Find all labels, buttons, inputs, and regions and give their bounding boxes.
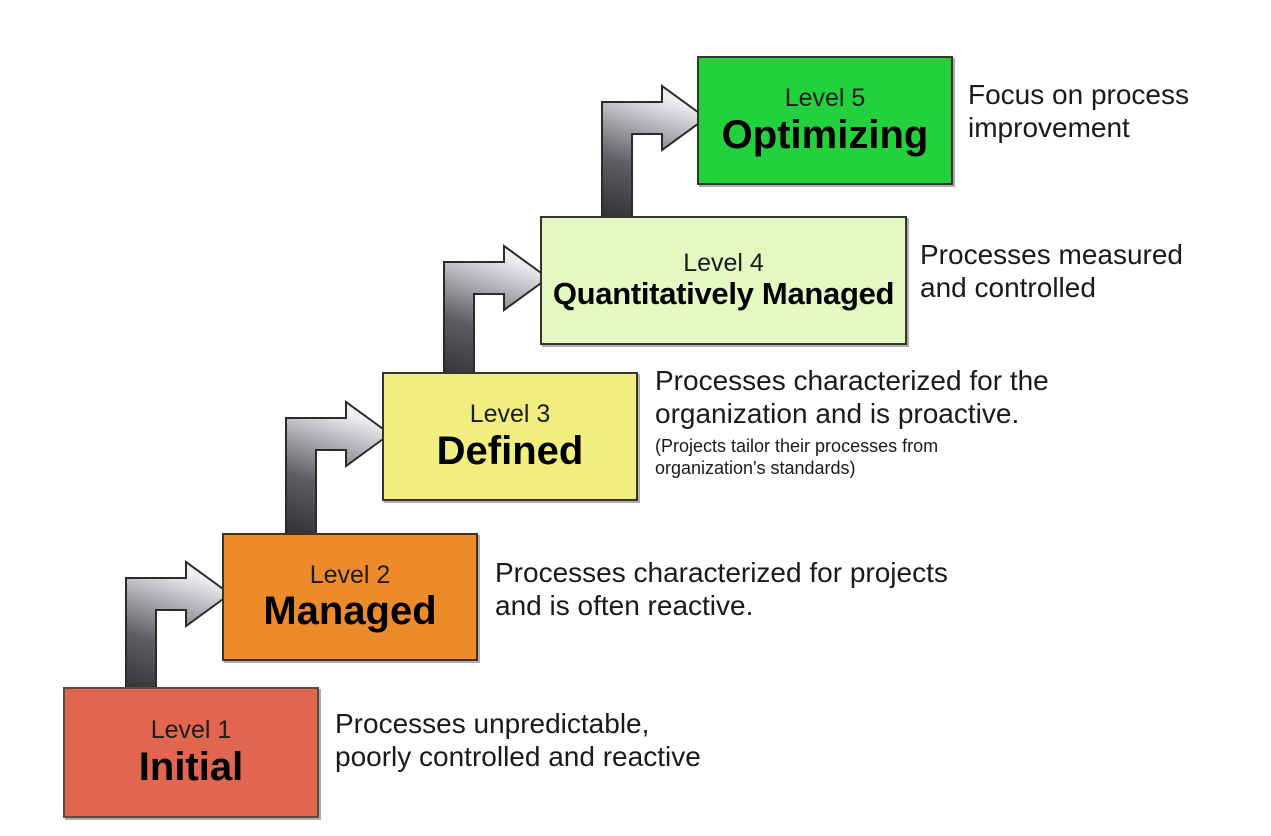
level-description-level-5: Focus on process improvement (968, 78, 1268, 144)
description-line: Processes characterized for projects (495, 556, 1055, 589)
level-description-level-2: Processes characterized for projects and… (495, 556, 1055, 622)
level-number-label-level-1: Level 1 (151, 717, 232, 743)
level-name-label-level-4: Quantitatively Managed (553, 278, 894, 311)
cmmi-maturity-diagram: Level 5 Optimizing Focus on process impr… (0, 0, 1271, 836)
description-line: Processes characterized for the (655, 364, 1155, 397)
level-name-label-level-5: Optimizing (722, 114, 929, 156)
level-box-level-4[interactable]: Level 4 Quantitatively Managed (540, 216, 907, 345)
level-number-label-level-3: Level 3 (470, 401, 551, 427)
description-sub-line: organization's standards) (655, 458, 1155, 480)
description-line: Processes measured (920, 238, 1260, 271)
level-number-label-level-5: Level 5 (785, 85, 866, 111)
level-box-level-2[interactable]: Level 2 Managed (222, 533, 478, 661)
level-description-level-3: Processes characterized for the organiza… (655, 364, 1155, 480)
description-line: Processes unpredictable, (335, 707, 855, 740)
arrow-level4-to-level5 (594, 80, 714, 220)
description-line: and is often reactive. (495, 589, 1055, 622)
arrow-level1-to-level2 (118, 556, 238, 696)
level-name-label-level-3: Defined (437, 430, 584, 472)
level-name-label-level-2: Managed (263, 590, 436, 632)
description-sub-line: (Projects tailor their processes from (655, 436, 1155, 458)
level-box-level-3[interactable]: Level 3 Defined (382, 372, 638, 501)
arrow-level2-to-level3 (278, 396, 398, 536)
description-line: organization and is proactive. (655, 397, 1155, 430)
arrow-level3-to-level4 (436, 240, 556, 380)
level-box-level-5[interactable]: Level 5 Optimizing (697, 56, 953, 185)
level-description-level-1: Processes unpredictable, poorly controll… (335, 707, 855, 773)
level-name-label-level-1: Initial (139, 746, 243, 788)
level-description-level-4: Processes measured and controlled (920, 238, 1260, 304)
description-line: Focus on process (968, 78, 1268, 111)
level-number-label-level-2: Level 2 (310, 562, 391, 588)
level-box-level-1[interactable]: Level 1 Initial (63, 687, 319, 818)
description-line: improvement (968, 111, 1268, 144)
description-line: and controlled (920, 271, 1260, 304)
level-number-label-level-4: Level 4 (683, 250, 764, 276)
description-line: poorly controlled and reactive (335, 740, 855, 773)
